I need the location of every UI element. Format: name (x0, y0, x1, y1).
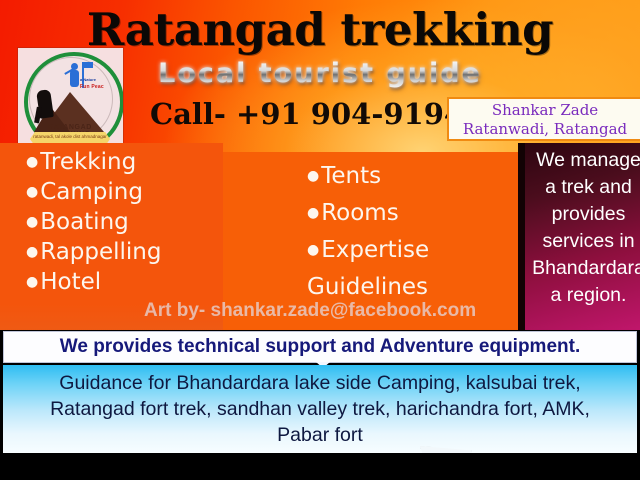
about-line-5: a region. (521, 282, 640, 309)
services-left-list: TrekkingCampingBoatingRappellingHotel (0, 143, 223, 297)
page-subtitle: Local tourist guide (0, 58, 640, 90)
phone-number[interactable]: Call- +91 904-9194-958 (150, 96, 470, 132)
contact-card: Shankar Zade Ratanwadi, Ratangad (447, 97, 640, 141)
contact-location: Ratanwadi, Ratangad (449, 120, 640, 139)
service-item-1: Rooms (307, 195, 518, 232)
about-line-1: a trek and (521, 174, 640, 201)
about-line-0: We manage (521, 147, 640, 174)
logo-ribbon-text: ratanwadi, tal akole dist ahmadnagar (30, 132, 110, 139)
support-banner: We provides technical support and Advent… (3, 331, 637, 363)
service-item-2: Boating (26, 207, 223, 237)
service-item-0: Trekking (26, 147, 223, 177)
contact-name: Shankar Zade (449, 101, 640, 120)
about-panel-text: We managea trek andprovidesservices inBh… (521, 143, 640, 309)
guidance-text: Guidance for Bhandardara lake side Campi… (3, 365, 637, 448)
support-banner-text: We provides technical support and Advent… (4, 332, 636, 362)
poster-root: a Nature Fun Peac RATANGAD TREKKING rata… (0, 0, 640, 480)
service-item-4: Hotel (26, 267, 223, 297)
about-line-2: provides (521, 201, 640, 228)
bottom-black-bar (0, 453, 640, 480)
services-mid-list: TentsRoomsExpertiseGuidelines (223, 152, 518, 306)
about-panel: We managea trek andprovidesservices inBh… (518, 143, 640, 330)
service-item-2: Expertise (307, 232, 518, 269)
about-line-3: services in (521, 228, 640, 255)
about-line-4: Bhandardara (521, 255, 640, 282)
guidance-panel: Guidance for Bhandardara lake side Campi… (3, 365, 637, 453)
artist-watermark: Art by- shankar.zade@facebook.com (144, 300, 476, 322)
service-item-1: Camping (26, 177, 223, 207)
service-item-0: Tents (307, 158, 518, 195)
service-item-3: Rappelling (26, 237, 223, 267)
page-title: Ratangad trekking (0, 4, 640, 56)
